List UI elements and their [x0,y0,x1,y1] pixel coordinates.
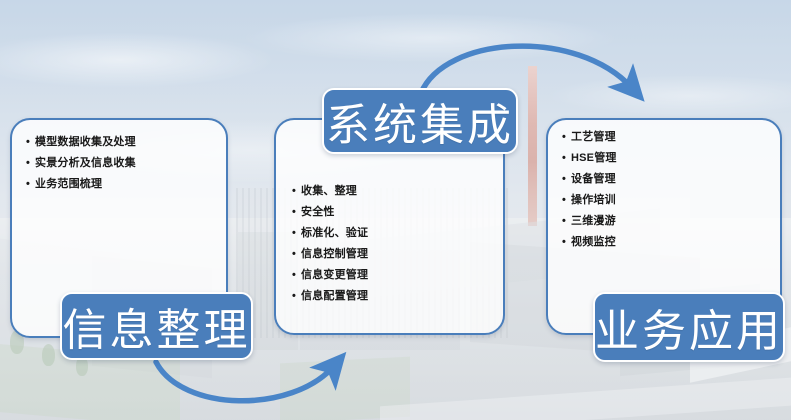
slide-canvas: 模型数据收集及处理 实景分析及信息收集 业务范围梳理 收集、整理 安全性 标准化… [0,0,791,420]
bullet-list-business-application: 工艺管理 HSE管理 设备管理 操作培训 三维漫游 视频监控 [548,120,780,253]
list-item: 收集、整理 [292,181,503,202]
list-item: 工艺管理 [562,127,780,148]
list-item: 实景分析及信息收集 [26,153,226,174]
bullet-list-information-organization: 模型数据收集及处理 实景分析及信息收集 业务范围梳理 [12,120,226,195]
list-item: 信息配置管理 [292,286,503,307]
list-item: 业务范围梳理 [26,174,226,195]
list-item: 信息控制管理 [292,244,503,265]
banner-system-integration[interactable]: 系统集成 [322,88,518,154]
list-item: 操作培训 [562,190,780,211]
list-item: 设备管理 [562,169,780,190]
list-item: 三维漫游 [562,211,780,232]
list-item: 视频监控 [562,232,780,253]
banner-business-application[interactable]: 业务应用 [593,292,785,362]
list-item: 标准化、验证 [292,223,503,244]
list-item: HSE管理 [562,148,780,169]
banner-information-organization[interactable]: 信息整理 [60,292,253,360]
list-item: 信息变更管理 [292,265,503,286]
list-item: 安全性 [292,202,503,223]
list-item: 模型数据收集及处理 [26,132,226,153]
